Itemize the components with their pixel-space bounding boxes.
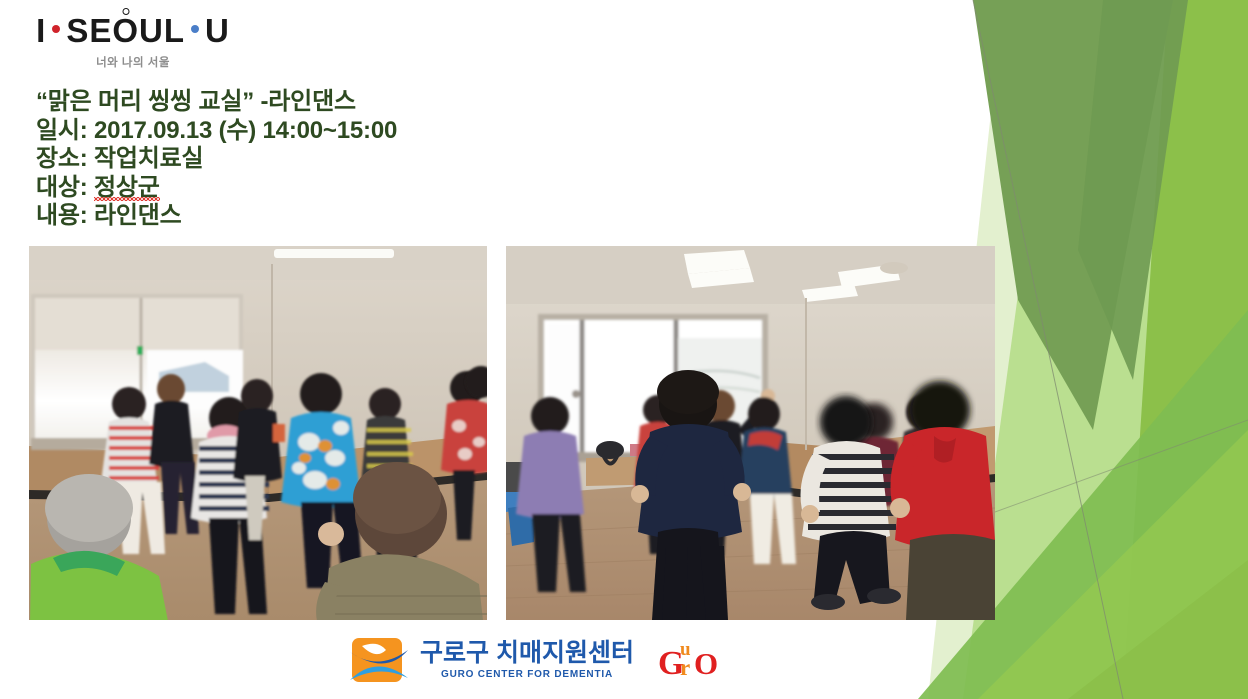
presentation-slide: I SEOUL U 너와 나의 서울 “맑은 머리 씽씽 교실” -라인댄스 일…: [0, 0, 1248, 699]
guro-wordmark-logo: G u r O: [658, 639, 722, 681]
red-dot-icon: [52, 25, 60, 33]
footer-logo-group: 구로구 치매지원센터 GURO CENTER FOR DEMENTIA G u …: [348, 638, 722, 682]
center-name-en: GURO CENTER FOR DEMENTIA: [441, 670, 613, 680]
guro-person-mark-icon: [348, 638, 410, 682]
i-seoul-u-logo: I SEOUL U 너와 나의 서울: [18, 14, 248, 70]
deco-hairline-1: [973, 0, 1123, 699]
event-target-value: 정상군: [94, 174, 160, 203]
event-title: “맑은 머리 씽씽 교실” -라인댄스: [36, 88, 397, 117]
event-content: 내용: 라인댄스: [36, 202, 397, 231]
activity-photo-right: [506, 246, 995, 620]
seoul-logo-wordmark: I SEOUL U: [18, 14, 248, 47]
event-info-block: “맑은 머리 씽씽 교실” -라인댄스 일시: 2017.09.13 (수) 1…: [36, 88, 397, 231]
event-datetime: 일시: 2017.09.13 (수) 14:00~15:00: [36, 117, 397, 146]
deco-shape-dark-1: [973, 0, 1173, 430]
activity-photo-left: [29, 246, 487, 620]
event-target-label: 대상:: [36, 174, 94, 201]
guro-letter-o: O: [694, 648, 718, 679]
logo-letter-i: I: [36, 14, 46, 47]
guro-letter-r: r: [680, 656, 690, 679]
center-name-kr: 구로구 치매지원센터: [420, 641, 634, 666]
o-ring-icon: [122, 8, 129, 15]
logo-letter-u: U: [205, 14, 230, 47]
deco-shape-bright-1: [1123, 0, 1248, 699]
seoul-logo-tagline: 너와 나의 서울: [18, 54, 248, 70]
deco-shape-light-1: [963, 0, 1248, 699]
deco-shape-mid-2: [978, 430, 1248, 699]
guro-center-name: 구로구 치매지원센터 GURO CENTER FOR DEMENTIA: [420, 641, 634, 680]
deco-shape-dark-2: [1078, 0, 1188, 380]
deco-shape-bright-2: [1068, 560, 1248, 699]
event-target: 대상: 정상군: [36, 174, 397, 203]
blue-dot-icon: [191, 25, 199, 33]
event-place: 장소: 작업치료실: [36, 145, 397, 174]
logo-word-seoul: SEOUL: [66, 14, 185, 47]
